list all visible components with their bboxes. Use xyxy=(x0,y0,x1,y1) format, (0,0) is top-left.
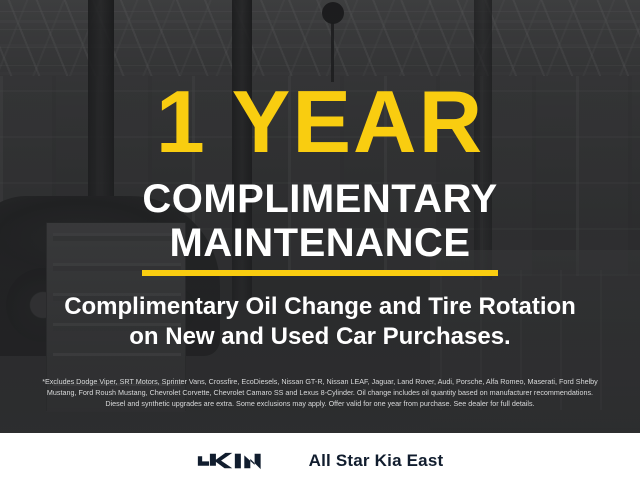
disclaimer-line-3: Diesel and synthetic upgrades are extra.… xyxy=(14,399,626,410)
headline-complimentary: COMPLIMENTARY xyxy=(0,178,640,220)
disclaimer-line-1: *Excludes Dodge Viper, SRT Motors, Sprin… xyxy=(14,377,626,388)
disclaimer-line-2: Mustang, Ford Roush Mustang, Chevrolet C… xyxy=(14,388,626,399)
subheadline-line-2: on New and Used Car Purchases. xyxy=(0,322,640,352)
dealer-name: All Star Kia East xyxy=(309,451,444,471)
disclaimer-text: *Excludes Dodge Viper, SRT Motors, Sprin… xyxy=(14,377,626,409)
subheadline-line-1: Complimentary Oil Change and Tire Rotati… xyxy=(0,292,640,322)
kia-logo xyxy=(197,450,283,472)
promotional-banner: 1 YEAR COMPLIMENTARY MAINTENANCE Complim… xyxy=(0,0,640,488)
headline-maintenance: MAINTENANCE xyxy=(0,222,640,264)
headline-year: 1 YEAR xyxy=(0,78,640,166)
subheadline: Complimentary Oil Change and Tire Rotati… xyxy=(0,292,640,352)
yellow-divider-bar xyxy=(142,270,498,276)
hero-content: 1 YEAR COMPLIMENTARY MAINTENANCE Complim… xyxy=(0,0,640,433)
footer-bar: All Star Kia East xyxy=(0,433,640,488)
hero-section: 1 YEAR COMPLIMENTARY MAINTENANCE Complim… xyxy=(0,0,640,433)
